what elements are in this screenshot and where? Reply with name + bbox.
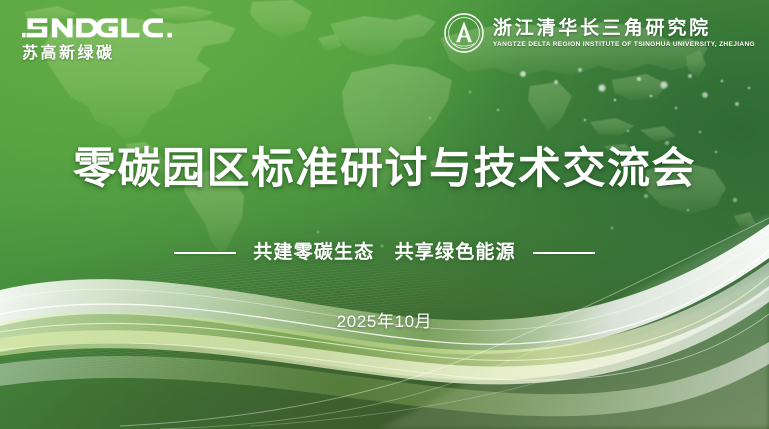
bokeh-sparkle	[659, 80, 668, 89]
subtitle-rule-right	[533, 252, 595, 254]
tsinghua-yrdi-emblem-icon	[443, 12, 485, 54]
institute-names: 浙江清华长三角研究院 YANGTZE DELTA REGION INSTITUT…	[493, 18, 755, 49]
subtitle-rule-left	[174, 252, 236, 254]
bokeh-sparkle	[643, 193, 648, 198]
bokeh-sparkle	[626, 129, 630, 133]
slide-subtitle: 共建零碳生态 共享绿色能源	[253, 243, 516, 262]
institute-logo: 浙江清华长三角研究院 YANGTZE DELTA REGION INSTITUT…	[443, 12, 755, 54]
slide-title: 零碳园区标准研讨与技术交流会	[0, 148, 769, 191]
bokeh-sparkle	[747, 86, 751, 90]
bokeh-sparkle	[649, 94, 653, 98]
sndglc-logo: 苏高新绿碳	[22, 11, 202, 63]
bokeh-sparkle	[496, 108, 500, 112]
bokeh-sparkle	[613, 98, 618, 103]
presentation-slide: 苏高新绿碳 浙江清华长三角研究院 YANGTZE DELTA REGION IN…	[0, 0, 769, 429]
bokeh-sparkle	[583, 118, 588, 123]
bokeh-sparkle	[734, 101, 740, 107]
slide-subtitle-row: 共建零碳生态 共享绿色能源	[0, 243, 769, 262]
slide-header: 苏高新绿碳 浙江清华长三角研究院 YANGTZE DELTA REGION IN…	[0, 0, 769, 78]
bokeh-sparkle	[428, 116, 432, 120]
sndglc-chinese-name: 苏高新绿碳	[22, 45, 202, 63]
bokeh-sparkle	[597, 83, 607, 93]
sndglc-wordmark-icon	[22, 11, 190, 42]
bokeh-sparkle	[720, 79, 724, 83]
institute-english-name: YANGTZE DELTA REGION INSTITUTE OF TSINGH…	[493, 41, 755, 48]
slide-date: 2025年10月	[0, 313, 769, 330]
bokeh-sparkle	[698, 130, 702, 134]
bokeh-sparkle	[468, 90, 472, 94]
bokeh-sparkle	[686, 208, 690, 212]
bokeh-sparkle	[732, 197, 738, 203]
bokeh-sparkle	[674, 106, 678, 110]
institute-chinese-name: 浙江清华长三角研究院	[493, 18, 755, 39]
bokeh-sparkle	[553, 79, 558, 84]
bokeh-sparkle	[701, 91, 709, 99]
